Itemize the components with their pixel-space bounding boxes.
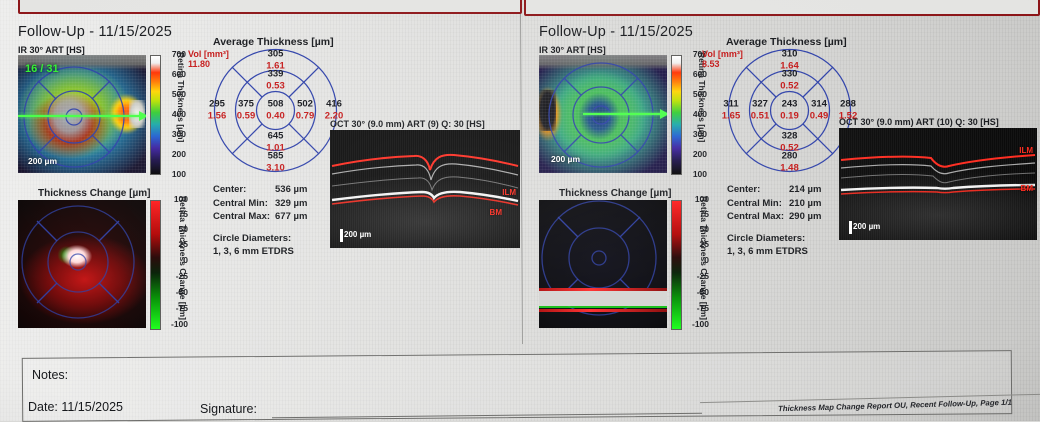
oct-label-ilm-od: ILM xyxy=(502,188,516,197)
change-map-title-os: Thickness Change [µm] xyxy=(559,188,671,199)
fundus-thickness-map-od[interactable]: 16 / 31 200 µm xyxy=(18,55,146,173)
etdrs-outer-nasal-thickness-od: 295 xyxy=(209,99,225,110)
thickness-change-map-od[interactable] xyxy=(18,200,146,328)
change-artifact-band-green-os xyxy=(539,306,667,308)
etdrs-center-thickness-od: 508 xyxy=(268,99,284,110)
etdrs-inner-temporal-thickness-od: 502 xyxy=(297,99,313,110)
etdrs-outer-inferior-volume-os: 1.48 xyxy=(780,163,799,174)
circle-diameters-label-os: Circle Diameters: xyxy=(727,233,805,244)
oct-header-os: OCT 30° (9.0 mm) ART (10) Q: 30 [HS] xyxy=(839,117,999,127)
etdrs-title-od: Average Thickness [µm] xyxy=(213,36,334,48)
thickness-change-map-os[interactable] xyxy=(539,200,667,328)
etdrs-inner-nasal-volume-od: 0.59 xyxy=(237,111,256,122)
change-axis-label-od: Retina Thickness Change [µm] xyxy=(178,196,188,320)
oct-label-bm-os: BM xyxy=(1021,184,1033,193)
fundus-header-os: IR 30° ART [HS] xyxy=(539,45,606,55)
change-artifact-band-red2-os xyxy=(539,309,667,312)
scan-arrow-od xyxy=(139,111,146,121)
etdrs-inner-superior-volume-os: 0.52 xyxy=(780,81,799,92)
change-axis-label-os: Retina Thickness Change [µm] xyxy=(699,196,709,320)
etdrs-outer-temporal-thickness-os: 288 xyxy=(840,99,856,110)
etdrs-inner-inferior-thickness-os: 328 xyxy=(782,131,798,142)
fundus-scale-bar-os: 200 µm xyxy=(551,154,580,164)
vol-value-os: 8.53 xyxy=(702,59,720,69)
frame-counter-od: 16 / 31 xyxy=(25,63,59,75)
etdrs-outer-inferior-thickness-os: 280 xyxy=(782,151,798,162)
etdrs-outer-superior-volume-od: 1.61 xyxy=(266,61,285,72)
etdrs-outer-temporal-thickness-od: 416 xyxy=(326,99,342,110)
etdrs-inner-temporal-volume-od: 0.79 xyxy=(296,111,315,122)
thickness-axis-label-od: Retina Thickness [µm] xyxy=(176,52,186,142)
scan-arrow-os xyxy=(660,109,667,119)
etdrs-overlay-change-od xyxy=(18,200,146,328)
signature-label: Signature: xyxy=(200,402,257,416)
oct-bscan-os[interactable]: ILM BM 200 µm xyxy=(839,128,1037,240)
etdrs-inner-temporal-thickness-os: 314 xyxy=(811,99,827,110)
fundus-scale-bar-od: 200 µm xyxy=(28,156,57,166)
oct-bscan-od[interactable]: ILM BM 200 µm xyxy=(330,130,520,248)
etdrs-grid-os[interactable]: 243 0.19 330 0.52 328 0.52 327 0.51 314 … xyxy=(727,48,852,173)
etdrs-grid-od[interactable]: 508 0.40 339 0.53 645 1.01 375 0.59 502 … xyxy=(213,48,338,173)
oct-label-bm-od: BM xyxy=(490,208,502,217)
oct-scale-bar-os: 200 µm xyxy=(853,222,880,231)
circle-diameters-value-od: 1, 3, 6 mm ETDRS xyxy=(213,246,294,257)
oct-scale-tick-os xyxy=(849,221,852,234)
etdrs-outer-inferior-thickness-od: 585 xyxy=(268,151,284,162)
notes-label: Notes: xyxy=(32,368,68,382)
etdrs-center-volume-os: 0.19 xyxy=(780,111,799,122)
scan-line-os xyxy=(583,113,667,115)
report-page: Follow-Up - 11/15/2025 IR 30° ART [HS] 1… xyxy=(0,0,1040,421)
etdrs-outer-inferior-volume-od: 3.10 xyxy=(266,163,285,174)
etdrs-center-volume-od: 0.40 xyxy=(266,111,285,122)
etdrs-inner-inferior-thickness-od: 645 xyxy=(268,131,284,142)
change-artifact-gap-os xyxy=(539,291,667,306)
oct-label-ilm-os: ILM xyxy=(1019,146,1033,155)
etdrs-outer-superior-volume-os: 1.64 xyxy=(780,61,799,72)
fundus-thickness-map-os[interactable]: 200 µm xyxy=(539,55,667,173)
circle-diameters-value-os: 1, 3, 6 mm ETDRS xyxy=(727,246,808,257)
follow-up-title-od: Follow-Up - 11/15/2025 xyxy=(18,24,172,40)
follow-up-title-os: Follow-Up - 11/15/2025 xyxy=(539,24,693,40)
etdrs-title-os: Average Thickness [µm] xyxy=(726,36,847,48)
change-map-title-od: Thickness Change [µm] xyxy=(38,188,150,199)
etdrs-outer-superior-thickness-os: 310 xyxy=(782,49,798,60)
notes-box[interactable] xyxy=(22,350,1012,422)
etdrs-inner-nasal-thickness-od: 375 xyxy=(238,99,254,110)
etdrs-inner-temporal-volume-os: 0.49 xyxy=(810,111,829,122)
panel-od: Follow-Up - 11/15/2025 IR 30° ART [HS] 1… xyxy=(0,0,520,345)
oct-header-od: OCT 30° (9.0 mm) ART (9) Q: 30 [HS] xyxy=(330,119,485,129)
etdrs-outer-nasal-thickness-os: 311 xyxy=(723,99,738,110)
date-text: Date: 11/15/2025 xyxy=(28,400,123,414)
etdrs-inner-nasal-volume-os: 0.51 xyxy=(751,111,770,122)
panel-os: Follow-Up - 11/15/2025 IR 30° ART [HS] 2… xyxy=(521,0,1040,345)
oct-scale-bar-od: 200 µm xyxy=(344,230,371,239)
oct-scale-tick-od xyxy=(340,229,343,242)
scan-line-od xyxy=(18,115,146,117)
etdrs-outer-nasal-volume-od: 1.56 xyxy=(208,111,227,122)
vol-value-od: 11.80 xyxy=(188,59,210,69)
etdrs-inner-superior-volume-od: 0.53 xyxy=(266,81,285,92)
etdrs-center-thickness-os: 243 xyxy=(782,99,798,110)
etdrs-outer-nasal-volume-os: 1.65 xyxy=(722,111,741,122)
etdrs-inner-nasal-thickness-os: 327 xyxy=(752,99,768,110)
fundus-header-od: IR 30° ART [HS] xyxy=(18,45,85,55)
etdrs-outer-superior-thickness-od: 305 xyxy=(268,49,284,60)
circle-diameters-label-od: Circle Diameters: xyxy=(213,233,291,244)
